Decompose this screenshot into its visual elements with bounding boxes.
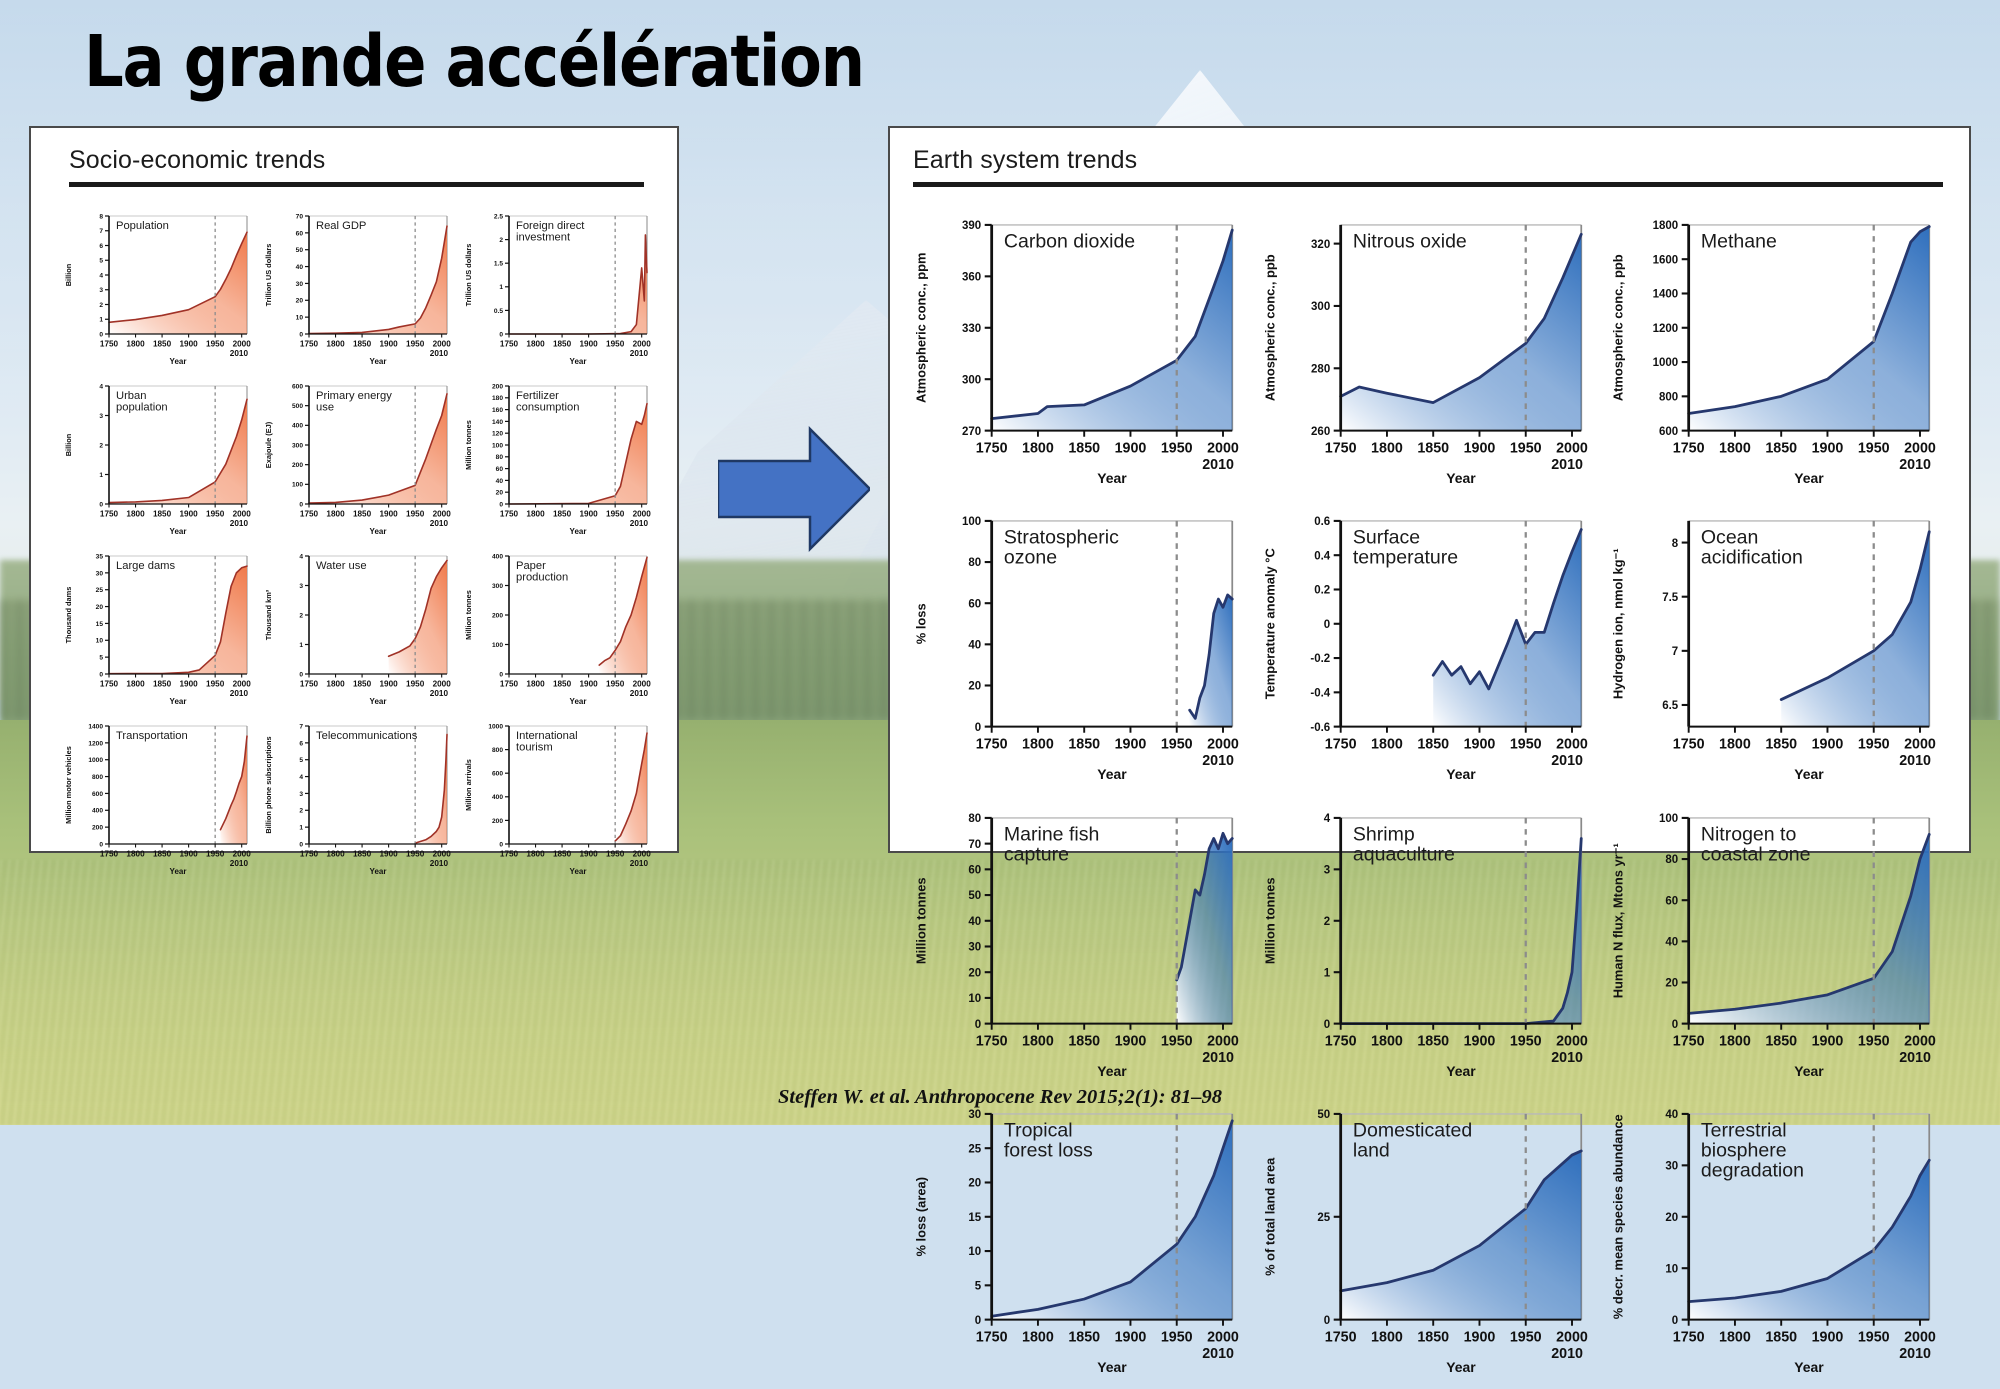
svg-text:forest loss: forest loss xyxy=(1004,1140,1093,1162)
svg-text:1750: 1750 xyxy=(300,680,319,689)
svg-text:0: 0 xyxy=(1672,1315,1678,1327)
svg-text:land: land xyxy=(1353,1140,1390,1162)
svg-text:population: population xyxy=(116,402,168,414)
svg-text:1850: 1850 xyxy=(353,850,372,859)
svg-text:Methane: Methane xyxy=(1701,231,1777,253)
svg-text:50: 50 xyxy=(296,247,304,254)
chart-nitrous-oxide: 2602803003201750180018501900195020002010… xyxy=(1257,204,1606,500)
chart-large-dams: 0510152025303517501800185019001950200020… xyxy=(61,544,261,714)
svg-text:1800: 1800 xyxy=(526,510,545,519)
svg-text:5: 5 xyxy=(99,258,103,265)
svg-text:0: 0 xyxy=(1323,1315,1329,1327)
svg-text:1: 1 xyxy=(99,472,103,479)
svg-text:0: 0 xyxy=(499,671,503,678)
svg-text:Year: Year xyxy=(370,867,387,876)
chart-population: 0123456781750180018501900195020002010Yea… xyxy=(61,204,261,374)
svg-text:1850: 1850 xyxy=(1068,737,1100,753)
svg-text:100: 100 xyxy=(492,642,503,649)
svg-text:1800: 1800 xyxy=(1719,1033,1751,1049)
svg-text:1900: 1900 xyxy=(1812,737,1844,753)
svg-text:1850: 1850 xyxy=(553,850,572,859)
svg-text:20: 20 xyxy=(96,604,104,611)
svg-text:80: 80 xyxy=(1666,854,1679,866)
svg-text:Year: Year xyxy=(170,527,187,536)
chart-tropical-forest-loss: 0510152025301750180018501900195020002010… xyxy=(908,1093,1257,1389)
svg-text:Trillion US dollars: Trillion US dollars xyxy=(464,244,473,307)
svg-text:1400: 1400 xyxy=(88,723,103,730)
svg-text:Water use: Water use xyxy=(316,560,367,572)
svg-text:400: 400 xyxy=(92,808,103,815)
chart-carbon-dioxide: 2703003303603901750180018501900195020002… xyxy=(908,204,1257,500)
svg-text:1800: 1800 xyxy=(1022,1329,1054,1345)
svg-text:1900: 1900 xyxy=(1115,440,1147,456)
svg-text:1750: 1750 xyxy=(500,680,519,689)
svg-text:60: 60 xyxy=(496,466,504,473)
chart-water-use: 012341750180018501900195020002010YearTho… xyxy=(261,544,461,714)
svg-text:ozone: ozone xyxy=(1004,547,1057,569)
svg-text:1950: 1950 xyxy=(406,680,425,689)
svg-text:Year: Year xyxy=(570,867,587,876)
svg-text:1800: 1800 xyxy=(326,510,345,519)
svg-text:investment: investment xyxy=(516,232,571,244)
svg-text:1850: 1850 xyxy=(553,510,572,519)
svg-text:International: International xyxy=(516,730,578,742)
svg-text:1750: 1750 xyxy=(500,510,519,519)
svg-text:30: 30 xyxy=(1666,1161,1679,1173)
svg-text:1950: 1950 xyxy=(606,850,625,859)
svg-text:2000: 2000 xyxy=(433,340,452,349)
svg-text:-0.4: -0.4 xyxy=(1310,688,1330,700)
svg-text:Urban: Urban xyxy=(116,390,146,402)
svg-text:4: 4 xyxy=(299,774,303,781)
svg-text:1: 1 xyxy=(299,642,303,649)
svg-text:1900: 1900 xyxy=(1812,1329,1844,1345)
svg-text:7: 7 xyxy=(99,228,103,235)
svg-text:1900: 1900 xyxy=(1463,1033,1495,1049)
svg-text:1950: 1950 xyxy=(1858,440,1890,456)
svg-text:0: 0 xyxy=(99,671,103,678)
svg-text:1750: 1750 xyxy=(1324,1329,1356,1345)
svg-text:1950: 1950 xyxy=(606,680,625,689)
svg-text:0: 0 xyxy=(499,841,503,848)
earth-system-chart-grid: 2703003303603901750180018501900195020002… xyxy=(908,204,1954,844)
svg-text:Human N flux, Mtons yr⁻¹: Human N flux, Mtons yr⁻¹ xyxy=(1611,843,1626,998)
svg-text:1900: 1900 xyxy=(380,510,399,519)
svg-text:0: 0 xyxy=(99,501,103,508)
svg-text:2: 2 xyxy=(1323,916,1329,928)
svg-text:1850: 1850 xyxy=(1068,440,1100,456)
chart-urban-population: 012341750180018501900195020002010YearBil… xyxy=(61,374,261,544)
svg-text:3: 3 xyxy=(99,413,103,420)
svg-text:1950: 1950 xyxy=(1161,1329,1193,1345)
svg-text:Year: Year xyxy=(1795,1063,1825,1079)
svg-text:Paper: Paper xyxy=(516,560,546,572)
svg-text:Atmospheric conc., ppb: Atmospheric conc., ppb xyxy=(1611,254,1626,401)
svg-text:1900: 1900 xyxy=(1115,1329,1147,1345)
svg-text:2010: 2010 xyxy=(230,349,249,358)
svg-text:Billion: Billion xyxy=(64,433,73,456)
svg-text:Year: Year xyxy=(1097,1063,1127,1079)
svg-text:50: 50 xyxy=(1317,1109,1330,1121)
svg-text:6: 6 xyxy=(299,740,303,747)
svg-text:400: 400 xyxy=(292,423,303,430)
svg-text:30: 30 xyxy=(96,570,104,577)
svg-text:2000: 2000 xyxy=(1556,737,1588,753)
svg-text:600: 600 xyxy=(92,791,103,798)
svg-text:% of total land area: % of total land area xyxy=(1262,1157,1277,1276)
svg-text:2000: 2000 xyxy=(233,340,252,349)
svg-text:1000: 1000 xyxy=(1653,357,1679,369)
svg-text:1900: 1900 xyxy=(1812,440,1844,456)
svg-text:1850: 1850 xyxy=(353,340,372,349)
svg-text:1750: 1750 xyxy=(300,850,319,859)
svg-text:40: 40 xyxy=(968,916,981,928)
svg-text:20: 20 xyxy=(968,1178,981,1190)
svg-text:1800: 1800 xyxy=(326,850,345,859)
svg-text:production: production xyxy=(516,572,568,584)
svg-text:4: 4 xyxy=(299,553,303,560)
svg-text:Hydrogen ion, nmol kg⁻¹: Hydrogen ion, nmol kg⁻¹ xyxy=(1611,549,1626,700)
svg-text:2000: 2000 xyxy=(1904,440,1936,456)
svg-text:% decr. mean species abundance: % decr. mean species abundance xyxy=(1611,1114,1626,1319)
svg-text:0: 0 xyxy=(99,841,103,848)
svg-text:600: 600 xyxy=(292,383,303,390)
svg-text:1950: 1950 xyxy=(1858,1033,1890,1049)
svg-text:1800: 1800 xyxy=(1022,737,1054,753)
right-arrow-icon xyxy=(718,425,870,553)
svg-text:1850: 1850 xyxy=(1417,440,1449,456)
svg-text:1950: 1950 xyxy=(1161,737,1193,753)
svg-text:5: 5 xyxy=(299,757,303,764)
svg-text:320: 320 xyxy=(1311,239,1330,251)
chart-shrimp-aquaculture: 012341750180018501900195020002010YearMil… xyxy=(1257,797,1606,1093)
svg-text:180: 180 xyxy=(492,395,503,402)
svg-text:2: 2 xyxy=(299,808,303,815)
svg-text:1800: 1800 xyxy=(526,340,545,349)
svg-text:1750: 1750 xyxy=(500,850,519,859)
svg-text:40: 40 xyxy=(1666,1109,1679,1121)
svg-text:360: 360 xyxy=(962,272,981,284)
svg-text:1400: 1400 xyxy=(1653,289,1679,301)
svg-text:Nitrous oxide: Nitrous oxide xyxy=(1353,231,1467,253)
svg-text:1900: 1900 xyxy=(1115,1033,1147,1049)
svg-text:400: 400 xyxy=(492,794,503,801)
svg-text:2000: 2000 xyxy=(433,850,452,859)
svg-text:Year: Year xyxy=(1097,1359,1127,1375)
svg-text:Temperature anomaly °C: Temperature anomaly °C xyxy=(1262,549,1277,700)
svg-text:Primary energy: Primary energy xyxy=(316,390,392,402)
svg-text:1900: 1900 xyxy=(380,850,399,859)
svg-text:Million tonnes: Million tonnes xyxy=(464,420,473,470)
svg-text:40: 40 xyxy=(968,640,981,652)
chart-stratospheric-ozone: 0204060801001750180018501900195020002010… xyxy=(908,500,1257,796)
svg-text:7: 7 xyxy=(1672,646,1678,658)
svg-text:1750: 1750 xyxy=(500,340,519,349)
svg-text:1850: 1850 xyxy=(553,680,572,689)
svg-text:Surface: Surface xyxy=(1353,527,1420,549)
svg-text:Transportation: Transportation xyxy=(116,730,188,742)
svg-text:80: 80 xyxy=(968,558,981,570)
chart-foreign-direct-investment: 00.511.522.51750180018501900195020002010… xyxy=(461,204,661,374)
svg-text:4: 4 xyxy=(1323,813,1330,825)
svg-text:2.5: 2.5 xyxy=(494,213,503,220)
svg-text:100: 100 xyxy=(962,516,981,528)
svg-text:Domesticated: Domesticated xyxy=(1353,1120,1472,1142)
svg-text:1: 1 xyxy=(499,284,503,291)
svg-text:2010: 2010 xyxy=(630,859,649,868)
chart-surface-temperature: -0.6-0.4-0.200.20.40.6175018001850190019… xyxy=(1257,500,1606,796)
svg-text:1750: 1750 xyxy=(1673,1033,1705,1049)
svg-text:2010: 2010 xyxy=(230,519,249,528)
svg-text:70: 70 xyxy=(968,839,981,851)
svg-text:Atmospheric conc., ppb: Atmospheric conc., ppb xyxy=(1262,254,1277,401)
svg-text:0: 0 xyxy=(975,1019,981,1031)
svg-text:2000: 2000 xyxy=(1904,1329,1936,1345)
svg-text:coastal zone: coastal zone xyxy=(1701,843,1811,865)
svg-text:2: 2 xyxy=(299,612,303,619)
svg-text:6.5: 6.5 xyxy=(1663,701,1680,713)
svg-text:260: 260 xyxy=(1311,426,1330,438)
svg-text:30: 30 xyxy=(968,941,981,953)
svg-text:Terrestrial: Terrestrial xyxy=(1701,1120,1787,1142)
svg-text:Thousand km³: Thousand km³ xyxy=(264,589,273,640)
svg-text:2010: 2010 xyxy=(1900,1050,1932,1066)
svg-text:4: 4 xyxy=(99,383,103,390)
svg-text:2010: 2010 xyxy=(1551,1050,1583,1066)
svg-text:2010: 2010 xyxy=(1551,457,1583,473)
svg-text:Year: Year xyxy=(570,527,587,536)
svg-text:Million tonnes: Million tonnes xyxy=(913,877,928,964)
svg-text:1800: 1800 xyxy=(526,680,545,689)
svg-text:25: 25 xyxy=(96,587,104,594)
svg-text:1950: 1950 xyxy=(1510,1329,1542,1345)
svg-text:1850: 1850 xyxy=(553,340,572,349)
svg-text:5: 5 xyxy=(99,655,103,662)
svg-text:6: 6 xyxy=(99,243,103,250)
svg-text:0: 0 xyxy=(975,722,981,734)
svg-text:2000: 2000 xyxy=(633,850,652,859)
svg-text:Million tonnes: Million tonnes xyxy=(1262,877,1277,964)
svg-text:200: 200 xyxy=(92,825,103,832)
svg-text:1850: 1850 xyxy=(1766,440,1798,456)
svg-text:2010: 2010 xyxy=(230,859,249,868)
svg-text:1000: 1000 xyxy=(88,757,103,764)
svg-text:Fertilizer: Fertilizer xyxy=(516,390,559,402)
page-title: La grande accélération xyxy=(84,26,864,97)
svg-text:1950: 1950 xyxy=(206,680,225,689)
svg-text:100: 100 xyxy=(1659,813,1678,825)
svg-text:1800: 1800 xyxy=(1371,1033,1403,1049)
svg-text:40: 40 xyxy=(1666,936,1679,948)
svg-text:1750: 1750 xyxy=(976,1033,1008,1049)
svg-text:Year: Year xyxy=(170,867,187,876)
svg-text:20: 20 xyxy=(496,490,504,497)
svg-text:1: 1 xyxy=(99,317,103,324)
svg-text:1950: 1950 xyxy=(406,850,425,859)
chart-primary-energy-use: 0100200300400500600175018001850190019502… xyxy=(261,374,461,544)
svg-text:Year: Year xyxy=(1097,766,1127,782)
svg-text:1800: 1800 xyxy=(1371,1329,1403,1345)
chart-domesticated-land: 025501750180018501900195020002010Year% o… xyxy=(1257,1093,1606,1389)
svg-text:1850: 1850 xyxy=(1417,1329,1449,1345)
svg-text:1750: 1750 xyxy=(100,340,119,349)
svg-text:0.2: 0.2 xyxy=(1314,585,1330,597)
svg-text:800: 800 xyxy=(92,774,103,781)
svg-text:120: 120 xyxy=(492,431,503,438)
svg-text:5: 5 xyxy=(975,1281,982,1293)
svg-text:1950: 1950 xyxy=(1510,737,1542,753)
svg-text:2000: 2000 xyxy=(1207,1329,1239,1345)
svg-text:1800: 1800 xyxy=(1371,737,1403,753)
svg-text:80: 80 xyxy=(496,454,504,461)
svg-text:Year: Year xyxy=(1446,1063,1476,1079)
svg-text:Shrimp: Shrimp xyxy=(1353,823,1415,845)
chart-telecommunications: 012345671750180018501900195020002010Year… xyxy=(261,714,461,884)
svg-text:1900: 1900 xyxy=(180,850,199,859)
svg-text:200: 200 xyxy=(492,383,503,390)
svg-text:10: 10 xyxy=(968,993,981,1005)
svg-text:270: 270 xyxy=(962,426,981,438)
svg-text:1200: 1200 xyxy=(88,740,103,747)
svg-text:1750: 1750 xyxy=(976,440,1008,456)
svg-text:280: 280 xyxy=(1311,363,1330,375)
svg-text:100: 100 xyxy=(492,442,503,449)
svg-text:1900: 1900 xyxy=(580,510,599,519)
svg-text:2010: 2010 xyxy=(1202,1050,1234,1066)
svg-text:2010: 2010 xyxy=(430,859,449,868)
svg-text:2010: 2010 xyxy=(1202,457,1234,473)
chart-real-gdp: 0102030405060701750180018501900195020002… xyxy=(261,204,461,374)
svg-text:2010: 2010 xyxy=(430,519,449,528)
svg-text:4: 4 xyxy=(99,272,103,279)
svg-text:2010: 2010 xyxy=(430,689,449,698)
svg-text:70: 70 xyxy=(296,213,304,220)
svg-text:% loss (area): % loss (area) xyxy=(913,1177,928,1257)
svg-text:8: 8 xyxy=(1672,538,1679,550)
svg-text:2000: 2000 xyxy=(1556,1033,1588,1049)
chart-methane: 6008001000120014001600180017501800185019… xyxy=(1605,204,1954,500)
svg-text:600: 600 xyxy=(1659,426,1678,438)
svg-text:80: 80 xyxy=(968,813,981,825)
svg-text:2010: 2010 xyxy=(630,519,649,528)
svg-text:1750: 1750 xyxy=(1324,737,1356,753)
svg-text:1950: 1950 xyxy=(606,510,625,519)
svg-text:2000: 2000 xyxy=(633,340,652,349)
svg-text:use: use xyxy=(316,402,334,414)
svg-text:30: 30 xyxy=(968,1109,981,1121)
svg-text:1750: 1750 xyxy=(1673,737,1705,753)
svg-text:temperature: temperature xyxy=(1353,547,1458,569)
svg-text:1950: 1950 xyxy=(406,510,425,519)
svg-text:25: 25 xyxy=(968,1143,981,1155)
svg-text:40: 40 xyxy=(496,478,504,485)
svg-text:1950: 1950 xyxy=(1510,440,1542,456)
svg-text:2010: 2010 xyxy=(1900,1346,1932,1362)
svg-text:1800: 1800 xyxy=(126,680,145,689)
svg-text:Year: Year xyxy=(170,357,187,366)
svg-text:Atmospheric conc., ppm: Atmospheric conc., ppm xyxy=(913,253,928,403)
svg-text:15: 15 xyxy=(968,1212,981,1224)
svg-text:3: 3 xyxy=(99,287,103,294)
svg-text:1900: 1900 xyxy=(1812,1033,1844,1049)
svg-text:100: 100 xyxy=(292,482,303,489)
svg-text:1850: 1850 xyxy=(1766,1329,1798,1345)
svg-text:degradation: degradation xyxy=(1701,1160,1804,1182)
svg-text:300: 300 xyxy=(492,583,503,590)
svg-text:2000: 2000 xyxy=(233,510,252,519)
chart-fertilizer-consumption: 0204060801001201401601802001750180018501… xyxy=(461,374,661,544)
svg-text:10: 10 xyxy=(96,638,104,645)
svg-text:200: 200 xyxy=(492,612,503,619)
svg-text:% loss: % loss xyxy=(913,604,928,645)
svg-text:1750: 1750 xyxy=(300,510,319,519)
svg-text:1000: 1000 xyxy=(488,723,503,730)
svg-text:1850: 1850 xyxy=(1766,737,1798,753)
svg-text:1: 1 xyxy=(1323,967,1330,979)
socio-economic-chart-grid: 0123456781750180018501900195020002010Yea… xyxy=(61,204,661,844)
svg-text:2010: 2010 xyxy=(1202,1346,1234,1362)
svg-text:1750: 1750 xyxy=(100,850,119,859)
svg-text:Year: Year xyxy=(170,697,187,706)
svg-text:1750: 1750 xyxy=(1324,440,1356,456)
svg-text:2000: 2000 xyxy=(1207,1033,1239,1049)
svg-text:Large dams: Large dams xyxy=(116,560,175,572)
svg-text:Population: Population xyxy=(116,220,169,232)
svg-text:1750: 1750 xyxy=(100,510,119,519)
svg-text:600: 600 xyxy=(492,771,503,778)
svg-text:2000: 2000 xyxy=(1904,737,1936,753)
panel-rule-left xyxy=(69,182,644,187)
svg-text:60: 60 xyxy=(968,864,981,876)
svg-text:1600: 1600 xyxy=(1653,254,1679,266)
svg-text:1800: 1800 xyxy=(126,510,145,519)
svg-text:0: 0 xyxy=(1672,1019,1678,1031)
svg-text:0: 0 xyxy=(99,331,103,338)
svg-text:1800: 1800 xyxy=(1022,1033,1054,1049)
svg-text:Thousand dams: Thousand dams xyxy=(64,587,73,644)
chart-marine-fish-capture: 0102030405060708017501800185019001950200… xyxy=(908,797,1257,1093)
svg-text:30: 30 xyxy=(296,281,304,288)
svg-text:Nitrogen to: Nitrogen to xyxy=(1701,823,1797,845)
svg-text:2000: 2000 xyxy=(1556,1329,1588,1345)
svg-text:1850: 1850 xyxy=(153,340,172,349)
svg-text:0: 0 xyxy=(299,841,303,848)
svg-text:400: 400 xyxy=(492,553,503,560)
svg-text:Year: Year xyxy=(1795,1359,1825,1375)
svg-text:1950: 1950 xyxy=(1161,440,1193,456)
svg-text:Year: Year xyxy=(370,527,387,536)
svg-text:1900: 1900 xyxy=(580,850,599,859)
svg-text:2000: 2000 xyxy=(1904,1033,1936,1049)
svg-text:biosphere: biosphere xyxy=(1701,1140,1787,1162)
svg-text:1850: 1850 xyxy=(1417,1033,1449,1049)
svg-text:1900: 1900 xyxy=(380,340,399,349)
svg-text:140: 140 xyxy=(492,419,503,426)
svg-text:390: 390 xyxy=(962,220,981,232)
svg-text:7.5: 7.5 xyxy=(1663,592,1680,604)
svg-text:15: 15 xyxy=(96,621,104,628)
svg-text:20: 20 xyxy=(968,967,981,979)
svg-text:200: 200 xyxy=(292,462,303,469)
svg-text:1800: 1800 xyxy=(1653,220,1679,232)
svg-text:10: 10 xyxy=(296,315,304,322)
svg-text:1.5: 1.5 xyxy=(494,261,503,268)
svg-text:1850: 1850 xyxy=(1766,1033,1798,1049)
svg-text:2: 2 xyxy=(99,302,103,309)
svg-text:60: 60 xyxy=(296,230,304,237)
svg-text:300: 300 xyxy=(292,442,303,449)
svg-text:2010: 2010 xyxy=(630,349,649,358)
